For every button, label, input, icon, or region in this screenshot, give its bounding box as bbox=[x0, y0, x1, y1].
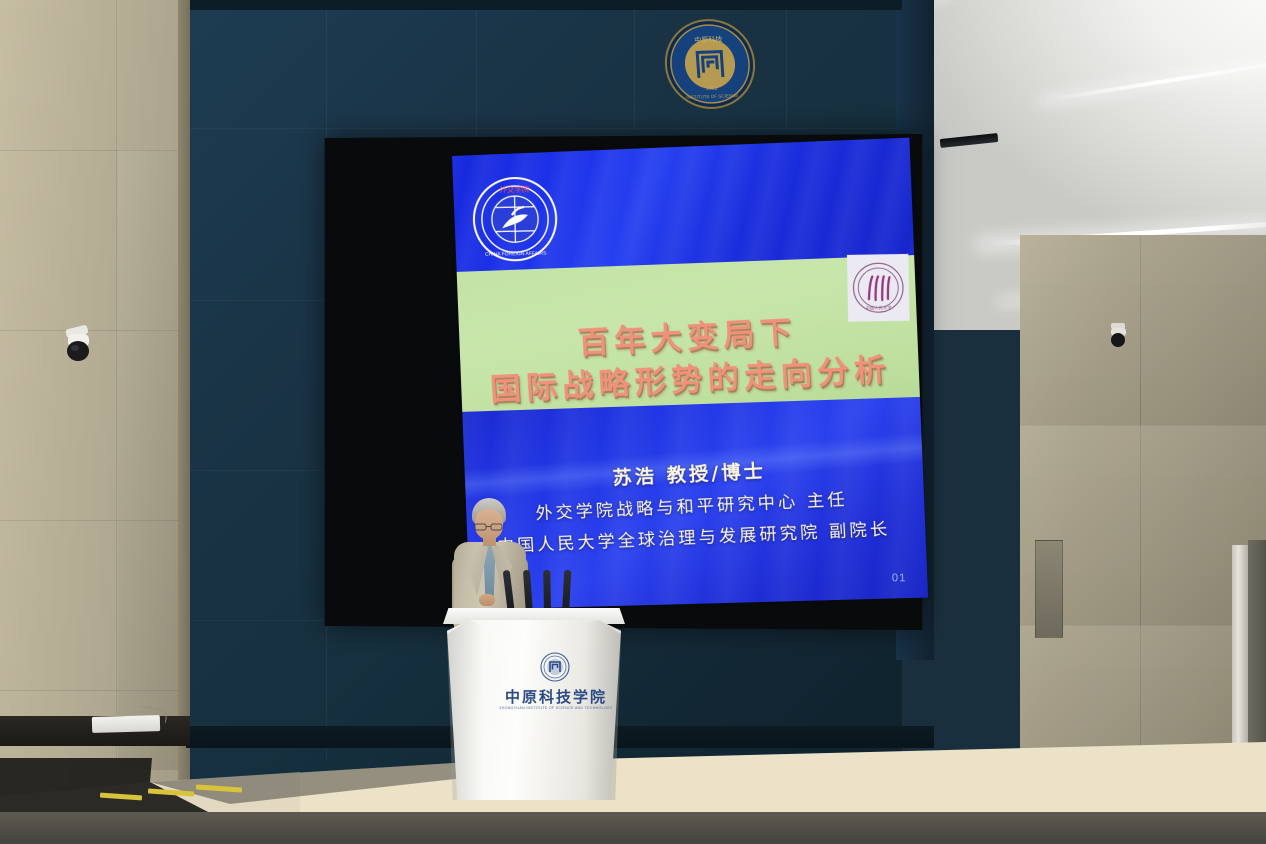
slide-title: 百年大变局下 国际战略形势的走向分析 bbox=[465, 306, 915, 413]
lectern-facet bbox=[585, 620, 621, 800]
lectern-facet bbox=[447, 620, 483, 800]
eyeglasses-icon bbox=[474, 518, 504, 526]
wall-panel bbox=[1140, 235, 1266, 426]
stage-front-face bbox=[0, 812, 1266, 844]
svg-text:外交学院: 外交学院 bbox=[499, 184, 530, 195]
wall-seam bbox=[634, 0, 635, 130]
microphone-icon bbox=[543, 570, 551, 614]
svg-text:中原科技: 中原科技 bbox=[694, 35, 723, 45]
dome-camera-icon bbox=[1108, 322, 1130, 350]
wall-seam bbox=[186, 470, 326, 471]
speaker-hand bbox=[479, 594, 495, 606]
lectern-institution-en: ZHONGYUAN INSTITUTE OF SCIENCE AND TECHN… bbox=[488, 706, 624, 710]
wall-seam bbox=[186, 300, 326, 301]
wall-corner-shadow bbox=[178, 0, 190, 805]
wall-seam bbox=[186, 620, 326, 621]
slide-page-number: 01 bbox=[892, 572, 907, 584]
university-crest-icon: 中原科技 INSTITUTE OF SCIENCE 2003 bbox=[661, 17, 759, 112]
slide-presenter-block: 苏浩 教授/博士 外交学院战略与和平研究中心 主任 中国人民大学全球治理与发展研… bbox=[461, 448, 924, 564]
university-crest-icon bbox=[540, 652, 570, 682]
svg-text:CHINA FOREIGN AFFAIRS: CHINA FOREIGN AFFAIRS bbox=[485, 251, 547, 258]
cfau-seal-icon: 外交学院 CHINA FOREIGN AFFAIRS bbox=[471, 175, 559, 263]
svg-text:2003: 2003 bbox=[706, 86, 718, 92]
lectern-institution-cn: 中原科技学院 bbox=[493, 686, 619, 707]
wall-panel bbox=[118, 150, 184, 770]
dome-camera-icon bbox=[62, 325, 96, 367]
wall-seam bbox=[786, 0, 787, 130]
ceiling-soffit bbox=[186, 0, 902, 10]
wall-vent bbox=[1035, 540, 1063, 638]
wall-seam bbox=[186, 128, 902, 129]
lecture-hall-photo: 中原科技 INSTITUTE OF SCIENCE 2003 bbox=[0, 0, 1266, 844]
